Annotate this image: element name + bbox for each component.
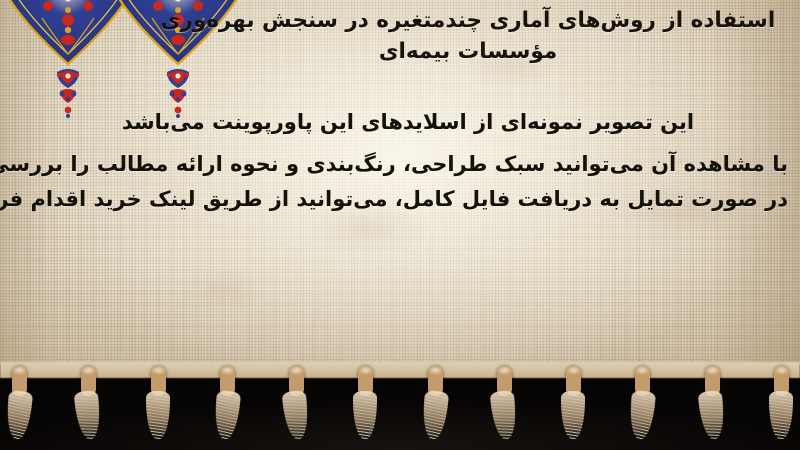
slide-title-line-1: استفاده از روش‌های آماری چندمتغیره در سن… <box>150 6 786 37</box>
slide-body-line-3: در صورت تمایل به دریافت فایل کامل، می‌تو… <box>28 187 788 211</box>
slide-body-line-2: با مشاهده آن می‌توانید سبک طراحی، رنگ‌بن… <box>28 152 788 176</box>
persian-carpet-medallion-icon <box>8 0 128 74</box>
slide-title: استفاده از روش‌های آماری چندمتغیره در سن… <box>150 6 786 67</box>
slide-canvas: استفاده از روش‌های آماری چندمتغیره در سن… <box>0 0 800 450</box>
slide-title-line-2: مؤسسات بیمه‌ای <box>150 37 786 68</box>
carpet-selvedge-edge <box>0 362 800 378</box>
slide-body: این تصویر نمونه‌ای از اسلایدهای این پاور… <box>28 110 788 222</box>
slide-body-line-1: این تصویر نمونه‌ای از اسلایدهای این پاور… <box>28 110 788 134</box>
